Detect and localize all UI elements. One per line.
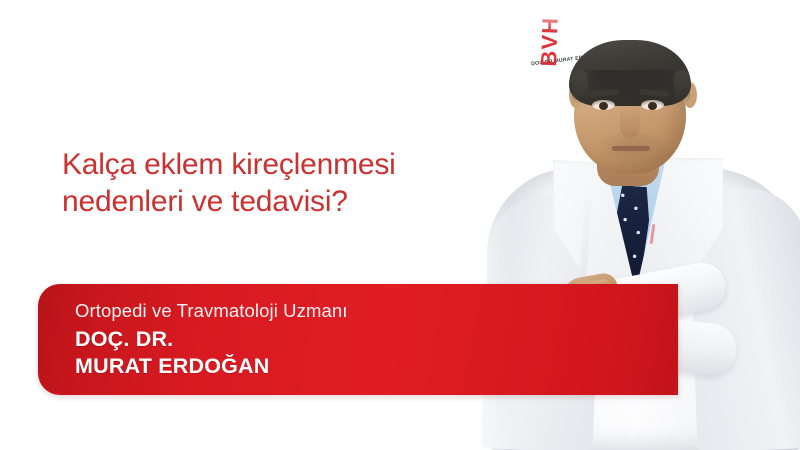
thumbnail-stage: DOC DR MURAT ERDOGAN BVH Kalça ek: [0, 0, 800, 450]
eye-right: [641, 100, 664, 110]
pupil: [599, 102, 608, 110]
coat-logo: BVH: [536, 17, 564, 67]
temple-right: [674, 70, 690, 104]
page-title: Kalça eklem kireçlenmesi nedenleri ve te…: [62, 146, 492, 220]
banner-text-group: Ortopedi ve Travmatoloji Uzmanı DOÇ. DR.…: [75, 299, 678, 380]
doctor-specialty: Ortopedi ve Travmatoloji Uzmanı: [75, 299, 678, 323]
temple-left: [572, 70, 588, 104]
eye-left: [592, 100, 615, 110]
doctor-credential-banner: Ortopedi ve Travmatoloji Uzmanı DOÇ. DR.…: [38, 284, 678, 395]
chin-shadow: [593, 132, 669, 170]
doctor-name: MURAT ERDOĞAN: [75, 353, 678, 380]
doctor-title: DOÇ. DR.: [75, 326, 678, 353]
pupil: [648, 102, 657, 110]
